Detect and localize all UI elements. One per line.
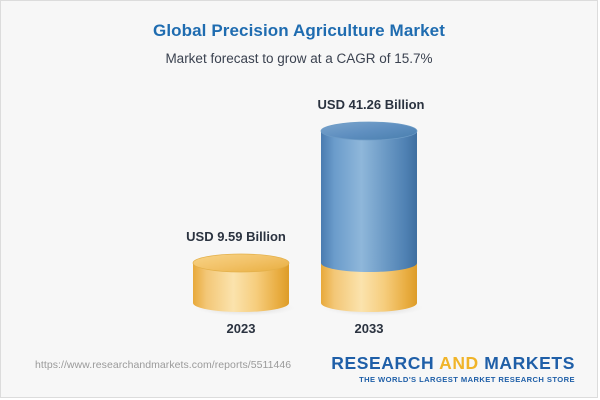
year-label-2033: 2033 <box>279 321 459 336</box>
footer: https://www.researchandmarkets.com/repor… <box>1 349 597 397</box>
value-label-2023: USD 9.59 Billion <box>146 229 326 244</box>
logo-word-markets: MARKETS <box>479 353 575 373</box>
research-and-markets-logo[interactable]: RESEARCH AND MARKETS THE WORLD'S LARGEST… <box>331 353 575 384</box>
logo-word-research: RESEARCH <box>331 353 439 373</box>
bar-cylinder-2023 <box>191 253 291 315</box>
value-label-2033: USD 41.26 Billion <box>281 97 461 112</box>
logo-tagline: THE WORLD'S LARGEST MARKET RESEARCH STOR… <box>331 375 575 384</box>
logo-word-and: AND <box>439 353 479 373</box>
report-url-link[interactable]: https://www.researchandmarkets.com/repor… <box>35 359 291 371</box>
bar-cylinder-2033 <box>319 119 419 315</box>
infographic-card: Global Precision Agriculture Market Mark… <box>0 0 598 398</box>
chart-plot-area: USD 9.59 Billion <box>1 1 597 397</box>
logo-wordmark: RESEARCH AND MARKETS <box>331 353 575 373</box>
